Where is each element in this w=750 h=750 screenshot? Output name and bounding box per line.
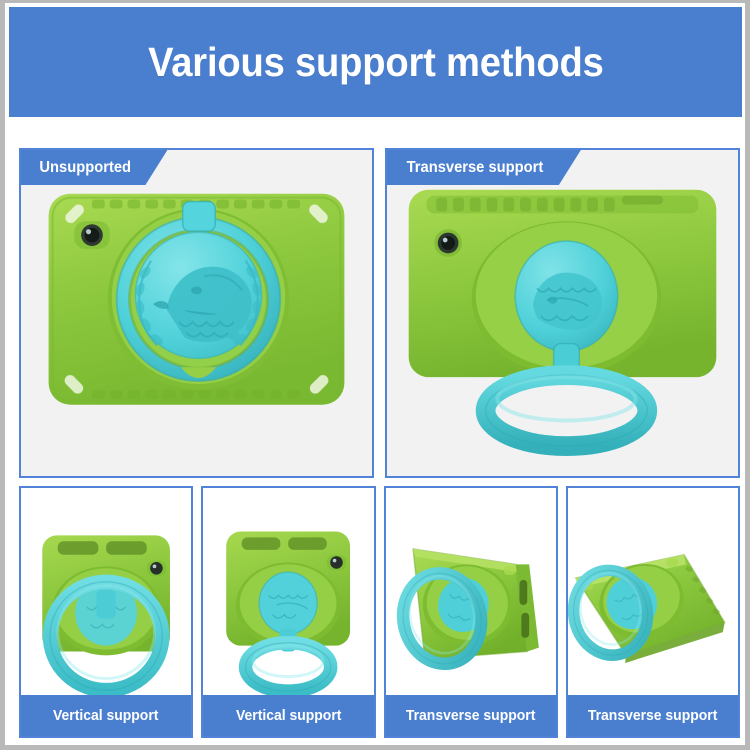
bottom-panel-row: Vertical support xyxy=(19,486,740,738)
panel-transverse-support-2[interactable]: Transverse support xyxy=(566,486,740,738)
tablet-case-vertical-ring-open-icon xyxy=(21,488,191,695)
panel-unsupported[interactable]: Unsupported xyxy=(19,148,374,478)
tablet-case-vertical-ring-folded-icon xyxy=(203,488,373,695)
panel-caption-transverse-1: Transverse support xyxy=(386,695,556,736)
panel-label-unsupported: Unsupported xyxy=(21,150,167,185)
infographic-page: Various support methods Unsupported xyxy=(0,0,750,750)
panel-transverse-support-main[interactable]: Transverse support xyxy=(385,148,740,478)
panel-caption-text: Vertical support xyxy=(236,707,341,724)
panel-label-text: Unsupported xyxy=(39,159,131,177)
tablet-case-angled-left-icon xyxy=(386,488,556,695)
panel-caption-text: Vertical support xyxy=(53,707,158,724)
panel-label-text: Transverse support xyxy=(407,159,544,177)
panel-caption-text: Transverse support xyxy=(588,707,717,724)
panel-caption-transverse-2: Transverse support xyxy=(568,695,738,736)
header-banner: Various support methods xyxy=(9,7,742,117)
panel-vertical-support-2[interactable]: Vertical support xyxy=(201,486,375,738)
panel-caption-text: Transverse support xyxy=(406,707,535,724)
tablet-case-rear-flat-icon xyxy=(21,150,372,476)
page-title: Various support methods xyxy=(148,39,603,86)
tablet-case-transverse-stand-icon xyxy=(387,150,738,476)
panel-caption-vertical-2: Vertical support xyxy=(203,695,373,736)
tablet-case-angled-right-icon xyxy=(568,488,738,695)
panel-label-transverse-main: Transverse support xyxy=(387,150,581,185)
panel-vertical-support-1[interactable]: Vertical support xyxy=(19,486,193,738)
panel-caption-vertical-1: Vertical support xyxy=(21,695,191,736)
panel-transverse-support-1[interactable]: Transverse support xyxy=(384,486,558,738)
top-panel-row: Unsupported xyxy=(19,148,740,478)
